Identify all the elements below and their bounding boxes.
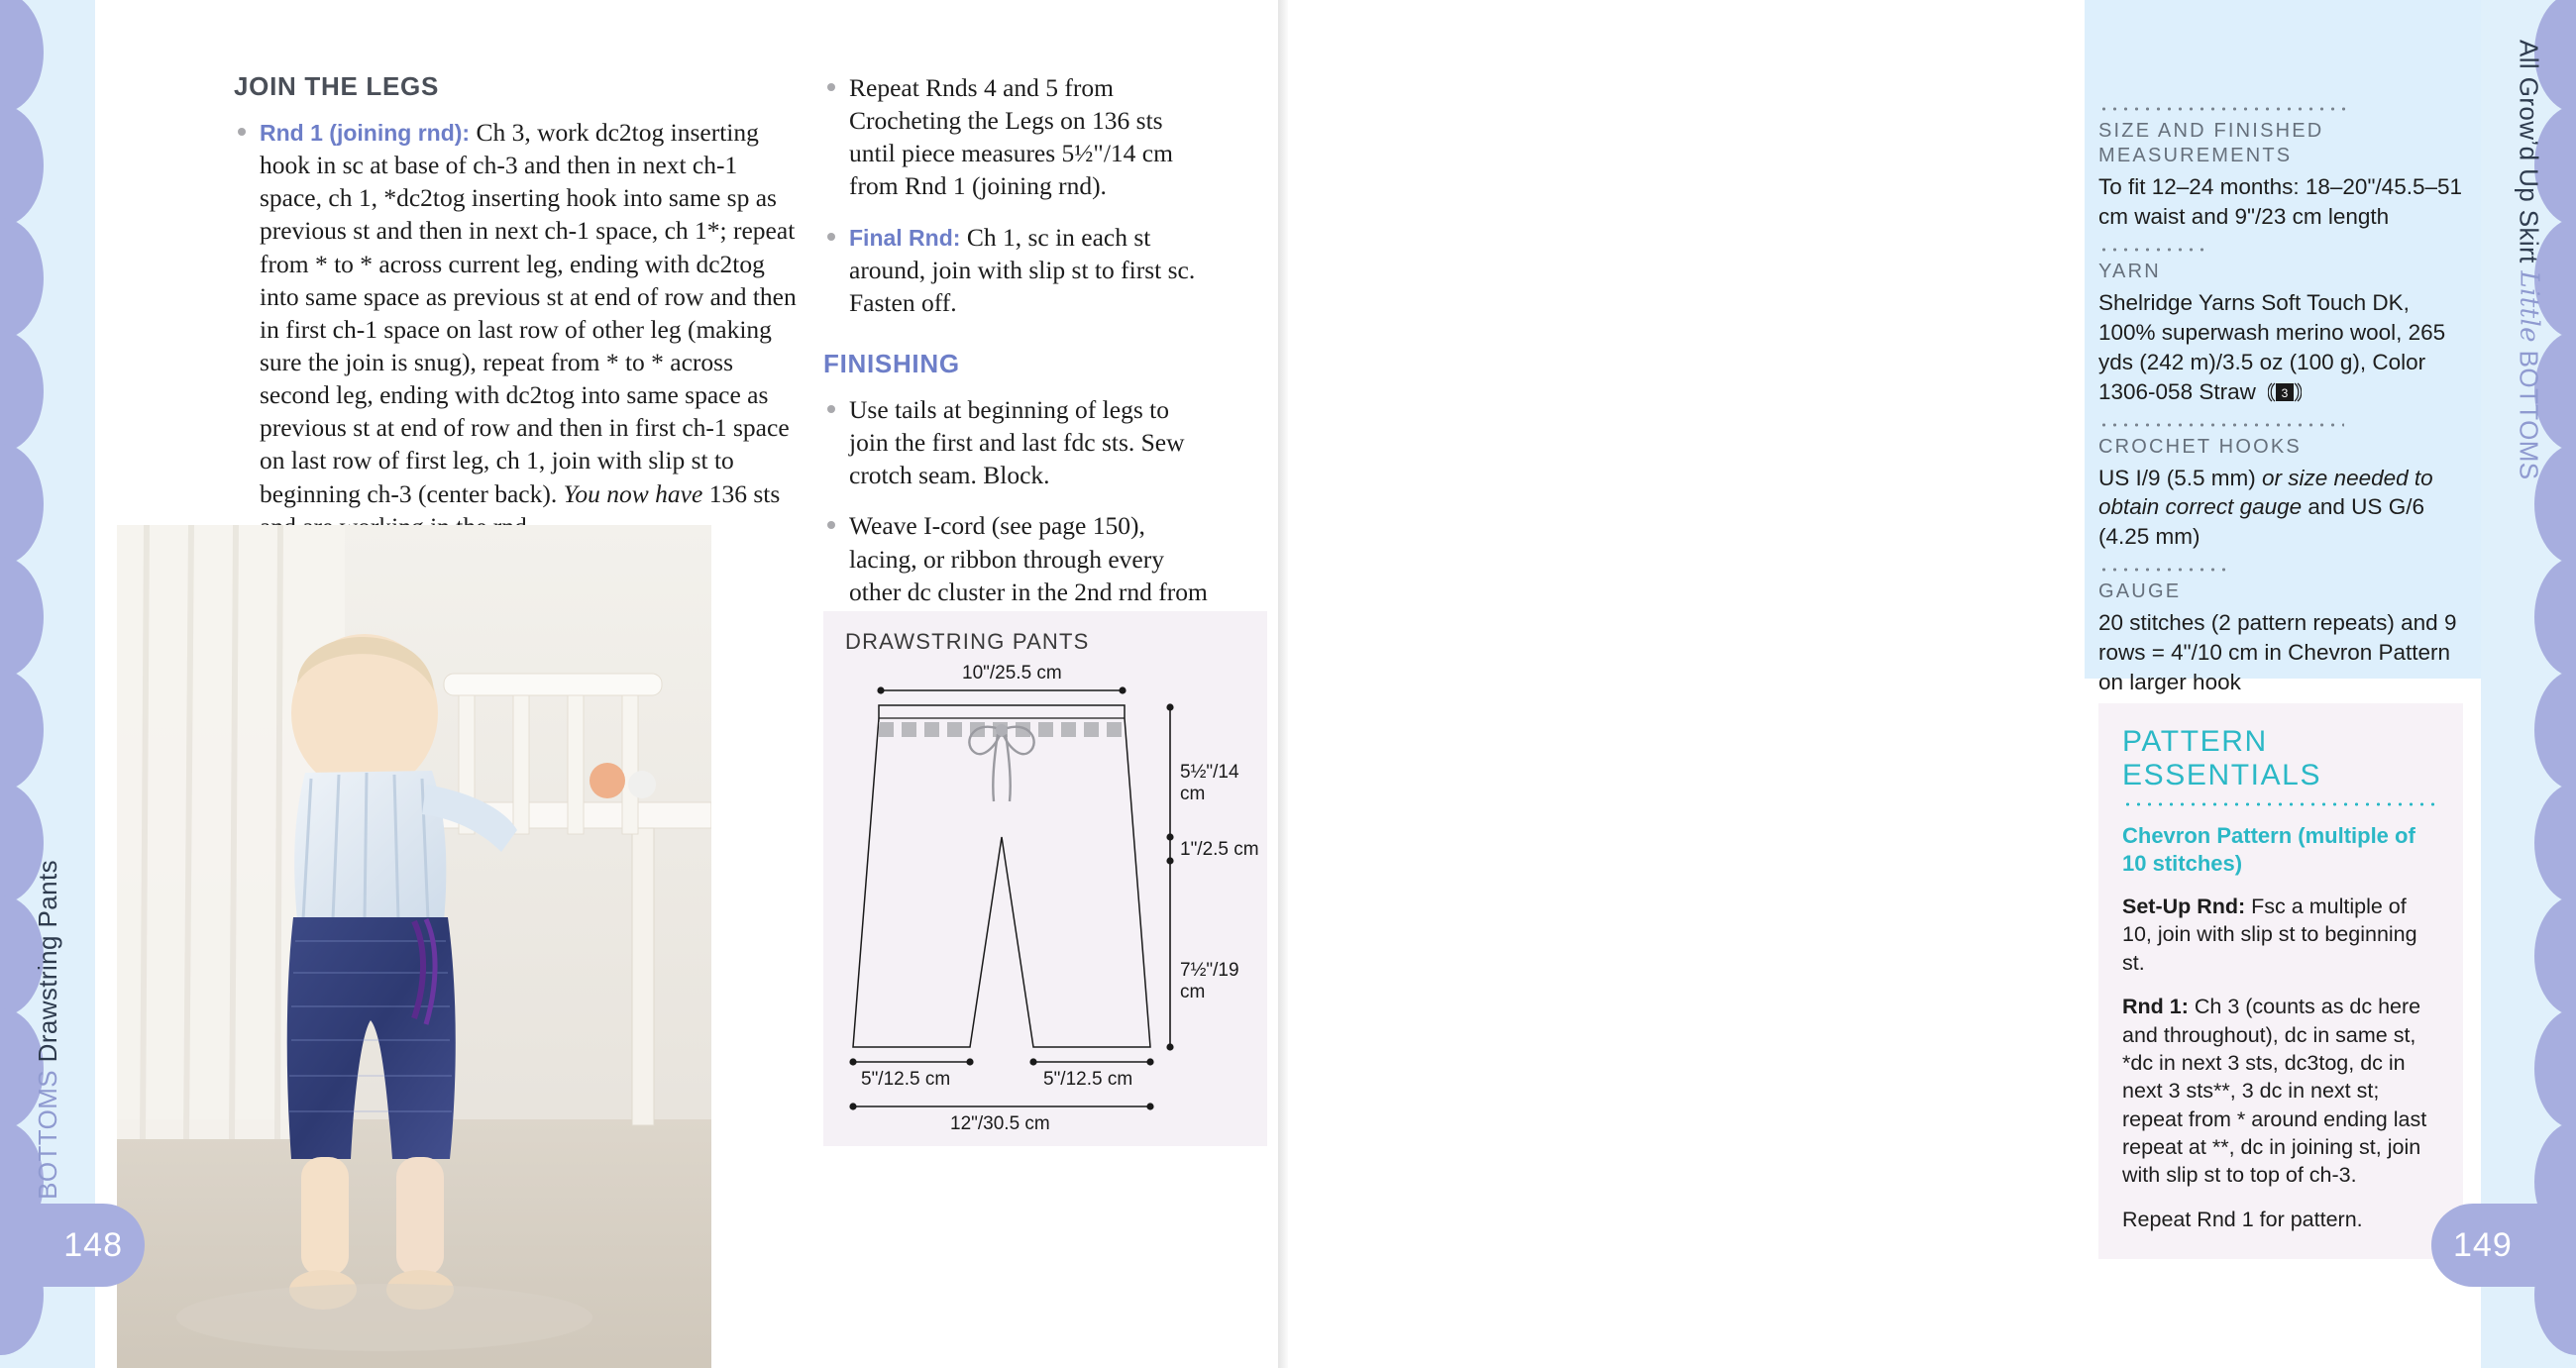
pattern-row: Repeat Rnd 1 for pattern. xyxy=(2122,1206,2439,1233)
pattern-essentials-box: PATTERN ESSENTIALS Chevron Pattern (mult… xyxy=(2098,703,2463,1259)
info-body-size: To fit 12–24 months: 18–20"/45.5–51 cm w… xyxy=(2098,172,2463,232)
continued-list: Repeat Rnds 4 and 5 from Crocheting the … xyxy=(823,71,1210,319)
page-number-left: 148 xyxy=(0,1204,145,1287)
rnd1-italic: You now have xyxy=(564,479,703,508)
drawstring-pants-photo xyxy=(117,525,711,1368)
list-item: Use tails at beginning of legs to join t… xyxy=(823,393,1210,491)
pattern-essentials-title: PATTERN ESSENTIALS xyxy=(2122,725,2439,792)
left-tab-title: Drawstring Pants xyxy=(33,860,62,1062)
left-column-a: JOIN THE LEGS Rnd 1 (joining rnd): Ch 3,… xyxy=(234,71,799,561)
info-body-yarn: Shelridge Yarns Soft Touch DK, 100% supe… xyxy=(2098,288,2463,407)
drawstring-pants-schematic: DRAWSTRING PANTS xyxy=(823,611,1267,1146)
finishing-heading: FINISHING xyxy=(823,349,1210,379)
schematic-drawing xyxy=(823,611,1267,1146)
yarn-weight-number: 3 xyxy=(2282,386,2289,400)
divider-dots xyxy=(2098,246,2207,254)
join-the-legs-heading: JOIN THE LEGS xyxy=(234,71,799,102)
setup-rnd-label: Set-Up Rnd: xyxy=(2122,894,2245,918)
yarn-weight-icon: 3 xyxy=(2268,381,2302,403)
list-item: Repeat Rnds 4 and 5 from Crocheting the … xyxy=(823,71,1210,203)
right-tab-script: Little xyxy=(2515,270,2544,343)
left-page: JOIN THE LEGS Rnd 1 (joining rnd): Ch 3,… xyxy=(95,0,1288,1368)
divider-dots xyxy=(2098,421,2344,429)
repeat-rnd1-text: Repeat Rnd 1 for pattern. xyxy=(2122,1208,2363,1231)
chevron-pattern-subtitle: Chevron Pattern (multiple of 10 stitches… xyxy=(2122,822,2439,877)
repeat-rnds-text: Repeat Rnds 4 and 5 from Crocheting the … xyxy=(849,73,1173,200)
right-tab-title: All Grow’d Up Skirt xyxy=(2515,40,2544,263)
list-item: Final Rnd: Ch 1, sc in each st around, j… xyxy=(823,221,1210,319)
final-rnd-label: Final Rnd: xyxy=(849,225,960,251)
book-spread: Little BOTTOMS Drawstring Pants JOIN THE… xyxy=(0,0,2576,1368)
info-heading-hooks: CROCHET HOOKS xyxy=(2098,435,2463,460)
join-the-legs-list: Rnd 1 (joining rnd): Ch 3, work dc2tog i… xyxy=(234,116,799,543)
pattern-row: Set-Up Rnd: Fsc a multiple of 10, join w… xyxy=(2122,893,2439,977)
page-number-right: 149 xyxy=(2431,1204,2576,1287)
divider-dots xyxy=(2098,566,2225,574)
finishing-item-1: Use tails at beginning of legs to join t… xyxy=(849,395,1185,489)
info-heading-yarn: YARN xyxy=(2098,260,2463,284)
pattern-row: Rnd 1: Ch 3 (counts as dc here and throu… xyxy=(2122,993,2439,1190)
right-tab-brand: BOTTOMS xyxy=(2515,351,2544,480)
left-tab-brand: BOTTOMS xyxy=(33,1070,62,1200)
info-body-hooks: US I/9 (5.5 mm) or size needed to obtain… xyxy=(2098,464,2463,553)
rnd1-label: Rnd 1 (joining rnd): xyxy=(260,120,470,146)
info-body-gauge: 20 stitches (2 pattern repeats) and 9 ro… xyxy=(2098,608,2463,697)
rnd1-text: Ch 3, work dc2tog inserting hook in sc a… xyxy=(260,118,797,508)
rnd1-pe-text: Ch 3 (counts as dc here and throughout),… xyxy=(2122,995,2426,1187)
info-heading-gauge: GAUGE xyxy=(2098,579,2463,604)
left-edge-tab: Little BOTTOMS Drawstring Pants xyxy=(0,0,95,1368)
list-item: Rnd 1 (joining rnd): Ch 3, work dc2tog i… xyxy=(234,116,799,543)
left-tab-text: Little BOTTOMS Drawstring Pants xyxy=(0,0,95,1368)
hooks-pre: US I/9 (5.5 mm) xyxy=(2098,466,2262,490)
rnd1-pe-label: Rnd 1: xyxy=(2122,995,2189,1018)
pattern-essentials-divider xyxy=(2122,800,2439,808)
schematic-title: DRAWSTRING PANTS xyxy=(845,629,1090,655)
divider-dots xyxy=(2098,105,2348,113)
info-heading-size: SIZE AND FINISHED MEASUREMENTS xyxy=(2098,119,2463,168)
right-edge-tab: All Grow’d Up Skirt Little BOTTOMS xyxy=(2481,0,2576,1368)
right-tab-text: All Grow’d Up Skirt Little BOTTOMS xyxy=(2481,0,2576,1368)
